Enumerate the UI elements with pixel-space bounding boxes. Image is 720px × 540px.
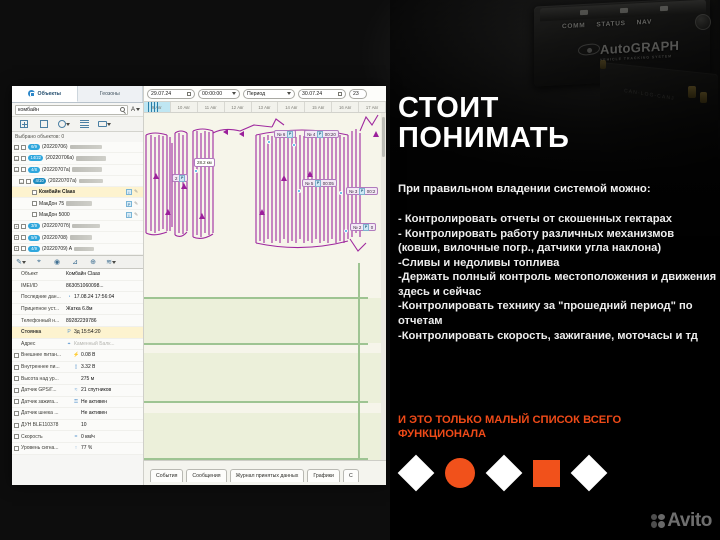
row-checkbox[interactable] [14, 376, 19, 381]
objects-panel: Объекты Геозоны комбайн A [12, 86, 144, 485]
blurred-text [74, 247, 94, 252]
row-checkbox[interactable] [32, 201, 37, 206]
blurred-text [70, 145, 102, 150]
tab-events[interactable]: События [150, 469, 183, 482]
timeline-tick-label: 13 Авг [258, 105, 270, 110]
add-group-icon [20, 120, 28, 128]
map-label[interactable]: № 6 P [274, 130, 296, 138]
property-key: ДУН BLE110378 [21, 422, 71, 428]
park-badge-icon: P [315, 180, 321, 187]
count-badge: 6/9 [28, 144, 40, 150]
info-badge-icon[interactable]: P [126, 201, 132, 207]
table-row[interactable]: –4/10(20220707a) [12, 176, 143, 187]
tab-geozones[interactable]: Геозоны [78, 86, 144, 102]
map-label-text: № 4 [307, 131, 315, 138]
property-key: Объект [14, 271, 64, 277]
tab-geozones-label: Геозоны [100, 91, 120, 97]
park-badge-icon: P [179, 175, 185, 182]
chart-button[interactable]: ⊿ [66, 258, 84, 266]
property-value: Комбайн Claas [66, 271, 100, 277]
tab-messages[interactable]: Сообщения [186, 469, 226, 482]
count-badge: 3/9 [28, 223, 40, 229]
table-row[interactable]: –4/8(20220707a) [12, 165, 143, 176]
sort-az-label: A [131, 107, 135, 113]
track-point-marker[interactable] [344, 229, 348, 233]
decorative-shapes-row [403, 458, 602, 488]
track-point-marker[interactable] [267, 140, 271, 144]
row-checkbox[interactable] [21, 167, 26, 172]
blurred-text [70, 235, 92, 240]
map-label[interactable]: № 2 P 0 [350, 223, 376, 231]
map-label-time: 0 [371, 224, 373, 231]
property-key: Датчик шнека ... [21, 410, 71, 416]
center-button[interactable]: ⊕ [84, 258, 102, 266]
property-value: 0 км/ч [81, 434, 95, 440]
timeline-tick[interactable]: 16 Авг [332, 102, 359, 112]
table-row: Последние дан...◔17.08.24 17:56:04 [12, 292, 143, 304]
list-item-label: (20220706a) [45, 155, 73, 161]
property-key: Внешнее питан... [21, 352, 71, 358]
list-item-label: (20220708) [42, 235, 68, 241]
table-row: Датчик GPS/Г...≈21 спутников [12, 385, 143, 397]
vehicle-icon [98, 121, 107, 127]
info-badge-icon[interactable]: i [126, 189, 132, 195]
timeline-tick[interactable]: 15 Авг [305, 102, 332, 112]
expand-icon[interactable]: – [14, 156, 19, 161]
row-checkbox[interactable] [14, 411, 19, 416]
objects-toolbar [12, 117, 143, 132]
time-to-input[interactable]: 23 [349, 89, 367, 99]
chevron-down-icon [107, 123, 111, 126]
tab-charts[interactable]: Графики [307, 469, 340, 482]
timeline-tick[interactable]: 17 Авг [359, 102, 386, 112]
property-value: 77 % [81, 445, 92, 451]
map-label-time: 00:20 [325, 131, 336, 138]
table-row[interactable]: МакДон 75P✎ [12, 198, 143, 209]
map-label[interactable]: № 4 P 00:20 [304, 130, 339, 138]
blurred-text [72, 224, 100, 229]
object-tree[interactable]: –6/9(20220706) –14/22(20220706a) –4/8(20… [12, 142, 143, 255]
row-checkbox[interactable] [14, 353, 19, 358]
expand-icon[interactable]: – [14, 167, 19, 172]
key-icon: ⚿ [73, 399, 79, 405]
property-key: Адрес [14, 341, 64, 347]
bullet-item: -Держать полный контроль местоположения … [398, 270, 718, 299]
avito-watermark: Avito [651, 510, 712, 532]
battery-icon: ▯ [73, 364, 79, 370]
table-row[interactable]: МакДон 5000i✎ [12, 210, 143, 221]
expand-icon[interactable]: + [14, 235, 19, 240]
row-checkbox[interactable] [21, 145, 26, 150]
tab-more[interactable]: С [343, 469, 359, 482]
property-key: Высота над ур... [21, 376, 71, 382]
row-checkbox[interactable] [21, 224, 26, 229]
expand-icon[interactable]: – [19, 179, 24, 184]
count-badge: 14/22 [28, 155, 43, 161]
table-row[interactable]: +5/9(20220708) [12, 232, 143, 243]
table-row[interactable]: +3/9(20220707б) [12, 221, 143, 232]
panel-tab-bar: Объекты Геозоны [12, 86, 143, 103]
square-icon [40, 120, 48, 128]
map-label-text: 2 [175, 175, 177, 182]
list-item-label: (20220707a) [42, 167, 70, 173]
vehicle-filter-button[interactable] [94, 121, 114, 127]
map-label-text: № 5 [305, 180, 313, 187]
row-actions: i✎ [126, 189, 143, 195]
time-from-input[interactable]: 00:00:00 [198, 89, 240, 99]
property-key: Скорость [21, 434, 71, 440]
sat-icon: ≈ [73, 387, 79, 393]
row-checkbox[interactable] [14, 365, 19, 370]
track-point-marker[interactable] [297, 189, 301, 193]
row-actions: P✎ [126, 201, 143, 207]
property-value: 863051060098... [66, 283, 104, 289]
property-key: Уровень сигна... [21, 445, 71, 451]
property-key: Внутреннее пи... [21, 364, 71, 370]
count-badge: 4/10 [33, 178, 46, 184]
avito-dot [658, 521, 665, 528]
promo-bullet-list: - Контролировать отчеты от скошенных гек… [398, 212, 718, 343]
park-badge-icon: P [287, 131, 293, 138]
map-workspace: 29.07.24 00:00:00 Период 30.07.24 23 [144, 86, 386, 485]
expand-icon[interactable]: + [14, 224, 19, 229]
row-checkbox[interactable] [21, 246, 26, 251]
selected-count-value: 0 [61, 134, 64, 140]
property-value: 3.32 В [81, 364, 95, 370]
select-rect-button[interactable] [34, 120, 54, 128]
property-value: 3д 15:54:20 [74, 329, 101, 335]
row-checkbox[interactable] [14, 446, 19, 451]
property-key: Телефонный н... [14, 318, 64, 324]
chevron-down-icon [22, 261, 26, 264]
timeline-tick[interactable]: 14 Авг [278, 102, 305, 112]
blurred-text [79, 179, 103, 184]
map-label[interactable]: 2 P [172, 174, 188, 182]
row-checkbox[interactable] [21, 156, 26, 161]
table-row: Прицепное уст...Жатка 6.8м [12, 304, 143, 316]
calendar-icon [187, 92, 191, 96]
expand-icon[interactable]: – [14, 145, 19, 150]
list-view-button[interactable] [74, 120, 94, 128]
table-row: IMEI/ID863051060098... [12, 281, 143, 293]
circle-shape-icon [445, 458, 475, 488]
timeline-tick[interactable]: 12 Авг [225, 102, 252, 112]
property-value: Жатка 6.8м [66, 306, 93, 312]
tab-data-log[interactable]: Журнал принятых данных [230, 469, 305, 482]
row-checkbox[interactable] [14, 434, 19, 439]
property-value: Каменный Балк... [74, 341, 115, 347]
signal-icon: ↑ [73, 445, 79, 451]
row-checkbox[interactable] [26, 179, 31, 184]
row-checkbox[interactable] [32, 190, 37, 195]
property-value: 275 м [81, 376, 94, 382]
promo-headline: СТОИТ ПОНИМАТЬ [398, 93, 569, 153]
map-canvas[interactable]: № 6 P № 4 P 00:20 № 5 P 00:05 № 3 P 00:2 [144, 113, 386, 460]
table-row: Уровень сигна...↑77 % [12, 443, 143, 455]
speed-icon: = [73, 434, 79, 440]
park-badge-icon: P [359, 188, 365, 195]
timeline-tick[interactable]: 11 Авг [198, 102, 225, 112]
map-label-text: № 3 [349, 188, 357, 195]
property-key: Последние дан... [14, 294, 64, 300]
info-badge-icon[interactable]: i [126, 212, 132, 218]
map-scrollbar[interactable] [381, 113, 386, 460]
timeline-tick-label: 12 Авг [231, 105, 243, 110]
blurred-text [66, 201, 92, 206]
time-to-value: 23 [353, 91, 359, 97]
table-row[interactable]: Комбайн Claasi✎ [12, 187, 143, 198]
bullet-item: -Контролировать скорость, зажигание, мот… [398, 329, 718, 344]
chevron-down-icon [232, 92, 236, 95]
list-item-label: (20220707б) [42, 223, 70, 229]
promo-footnote: И ЭТО ТОЛЬКО МАЛЫЙ СПИСОК ВСЕГО ФУНКЦИОН… [398, 413, 698, 442]
tab-objects-label: Объекты [38, 91, 61, 97]
search-input[interactable]: комбайн [15, 105, 128, 115]
property-key: Прицепное уст... [14, 306, 64, 312]
tab-objects[interactable]: Объекты [12, 86, 78, 102]
property-value: Не активен [81, 399, 107, 405]
row-checkbox[interactable] [14, 423, 19, 428]
wrench-icon[interactable]: ✎ [134, 189, 140, 195]
timeline-tick-label: 17 Авг [366, 105, 378, 110]
timeline-tick[interactable]: 13 Авг [252, 102, 279, 112]
map-label-time: 00:2 [367, 188, 376, 195]
period-toolbar: 29.07.24 00:00:00 Период 30.07.24 23 [144, 86, 386, 102]
map-label[interactable]: № 5 P 00:05 [302, 179, 337, 187]
property-value: 89282239786 [66, 318, 97, 324]
park-badge-icon: P [317, 131, 323, 138]
search-icon [120, 107, 125, 112]
promo-image: COMM STATUS NAV AutoGRAPH VEHICLE TRACKI… [0, 0, 720, 540]
timeline-tick-label: 16 Авг [339, 105, 351, 110]
list-item-label: МакДон 5000 [39, 212, 70, 218]
select-circle-button[interactable] [54, 120, 74, 128]
track-point-marker[interactable] [292, 143, 296, 147]
diamond-shape-icon [486, 455, 523, 492]
search-row: комбайн A [12, 103, 143, 117]
time-from-value: 00:00:00 [202, 91, 222, 97]
property-value: 10 [81, 422, 87, 428]
period-select[interactable]: Период [243, 89, 295, 99]
timeline-ruler[interactable]: 9 Авг 10 Авг 11 Авг 12 Авг 13 Авг 14 Авг… [144, 102, 386, 113]
visibility-button[interactable]: ◉ [48, 258, 66, 266]
wrench-icon[interactable]: ✎ [134, 212, 140, 218]
timeline-tick-label: 15 Авг [312, 105, 324, 110]
table-row: ДУН BLE11037810 [12, 420, 143, 432]
bullet-item: - Контролировать работу различных механи… [398, 227, 718, 256]
avito-dots-icon [651, 514, 666, 529]
period-label: Период [247, 91, 265, 97]
property-value: Не активен [81, 410, 107, 416]
table-row: Телефонный н...89282239786 [12, 315, 143, 327]
map-label-text: № 2 [353, 224, 361, 231]
target-icon: ⊕ [90, 258, 96, 266]
property-key: Датчик зажига... [21, 399, 71, 405]
chart-icon: ⊿ [72, 258, 78, 266]
bullet-item: - Контролировать отчеты от скошенных гек… [398, 212, 718, 227]
headline-line-1: СТОИТ [398, 93, 569, 123]
table-row: Скорость=0 км/ч [12, 431, 143, 443]
chevron-down-icon [136, 108, 140, 111]
table-row: Внешнее питан...⚡0.08 В [12, 350, 143, 362]
blurred-text [72, 167, 102, 172]
layers-button[interactable]: ≋ [102, 258, 120, 266]
pin-icon: ⌖ [37, 258, 41, 266]
clock-icon: ◔ [66, 294, 72, 300]
row-checkbox[interactable] [32, 212, 37, 217]
selected-count-row: Выбрано объектов: 0 [12, 132, 143, 142]
table-row: Высота над ур...275 м [12, 373, 143, 385]
expand-icon[interactable]: + [14, 246, 19, 251]
map-label[interactable]: № 3 P 00:2 [346, 187, 378, 195]
property-key: IMEI/ID [14, 283, 64, 289]
objects-icon [28, 90, 35, 97]
table-row[interactable]: –14/22(20220706a) [12, 153, 143, 164]
gps-track [144, 113, 386, 460]
list-item-label: МакДон 75 [39, 201, 64, 207]
row-actions: i✎ [126, 212, 143, 218]
avito-dot [651, 521, 657, 528]
sort-az-button[interactable]: A [131, 107, 140, 113]
chevron-down-icon [287, 92, 291, 95]
avito-wordmark: Avito [667, 510, 712, 532]
add-group-button[interactable] [14, 120, 34, 128]
timeline-tick-label: 11 Авг [205, 105, 217, 110]
list-icon [80, 120, 89, 128]
property-key: Датчик GPS/Г... [21, 387, 71, 393]
table-row[interactable]: +4/9(20220709) A [12, 244, 143, 255]
timeline-tick-label: 14 Авг [285, 105, 297, 110]
bullet-item: -Сливы и недоливы топлива [398, 256, 718, 271]
blurred-text [76, 156, 106, 161]
timeline-tick[interactable]: 9 Авг [144, 102, 171, 112]
promo-lead-text: При правильном владении системой можно: [398, 182, 716, 196]
date-to-value: 30.07.24 [302, 91, 322, 97]
circle-icon [58, 120, 66, 128]
list-item-label: (20220709) A [42, 246, 72, 252]
timeline-tick[interactable]: 10 Авг [171, 102, 198, 112]
wrench-icon[interactable]: ✎ [134, 201, 140, 207]
park-badge-icon: P [363, 224, 369, 231]
row-checkbox[interactable] [14, 388, 19, 393]
edit-button[interactable]: ✎ [12, 258, 30, 266]
date-from-input[interactable]: 29.07.24 [147, 89, 195, 99]
property-value: 0.08 В [81, 352, 95, 358]
search-value: комбайн [18, 107, 39, 113]
bottom-tab-bar: События Сообщения Журнал принятых данных… [144, 460, 386, 485]
autograph-software-window: Объекты Геозоны комбайн A [12, 86, 386, 485]
count-badge: 4/8 [28, 167, 40, 173]
distance-label: 28.2 км [194, 158, 215, 167]
table-row: Датчик шнека ...Не активен [12, 408, 143, 420]
chevron-down-icon [112, 261, 116, 264]
property-key: Стоянка [14, 329, 64, 335]
table-row[interactable]: –6/9(20220706) [12, 142, 143, 153]
table-row: ОбъектКомбайн Claas [12, 269, 143, 281]
timeline-tick-label: 10 Авг [178, 105, 190, 110]
table-row: Внутреннее пи...▯3.32 В [12, 362, 143, 374]
date-from-value: 29.07.24 [151, 91, 171, 97]
property-value: 17.08.24 17:56:04 [74, 294, 114, 300]
row-checkbox[interactable] [14, 399, 19, 404]
eye-icon: ◉ [54, 258, 60, 266]
track-point-marker[interactable] [339, 191, 343, 195]
row-checkbox[interactable] [21, 235, 26, 240]
table-row: Датчик зажига...⚿Не активен [12, 397, 143, 409]
properties-toolbar: ✎ ⌖ ◉ ⊿ ⊕ ≋ [12, 255, 143, 269]
selected-count-label: Выбрано объектов: [15, 134, 60, 140]
table-row: Адрес⌖Каменный Балк... [12, 339, 143, 351]
bullet-item: -Контролировать технику за "прошедний пе… [398, 299, 718, 328]
list-item-label: (20220707a) [48, 178, 76, 184]
power-icon: ⚡ [73, 352, 79, 358]
count-badge: 4/9 [28, 246, 40, 252]
diamond-shape-icon [571, 455, 608, 492]
object-properties-table: ОбъектКомбайн Claas IMEI/ID863051060098.… [12, 269, 143, 455]
park-icon: P [66, 329, 72, 335]
chevron-down-icon [66, 123, 70, 126]
date-to-input[interactable]: 30.07.24 [298, 89, 346, 99]
table-row: СтоянкаP3д 15:54:20 [12, 327, 143, 339]
count-badge: 5/9 [28, 235, 40, 241]
avito-dot [658, 514, 665, 520]
map-label-text: № 6 [277, 131, 285, 138]
locate-button[interactable]: ⌖ [30, 258, 48, 266]
list-item-label: Комбайн Claas [39, 189, 75, 195]
property-value: 21 спутников [81, 387, 111, 393]
headline-line-2: ПОНИМАТЬ [398, 123, 569, 153]
track-point-marker[interactable] [194, 169, 198, 173]
map-label-time: 00:05 [323, 180, 334, 187]
diamond-shape-icon [398, 455, 435, 492]
pin-icon: ⌖ [66, 341, 72, 347]
list-item-label: (20220706) [42, 144, 68, 150]
square-shape-icon [533, 460, 560, 487]
calendar-icon [338, 92, 342, 96]
avito-dot [651, 514, 657, 520]
